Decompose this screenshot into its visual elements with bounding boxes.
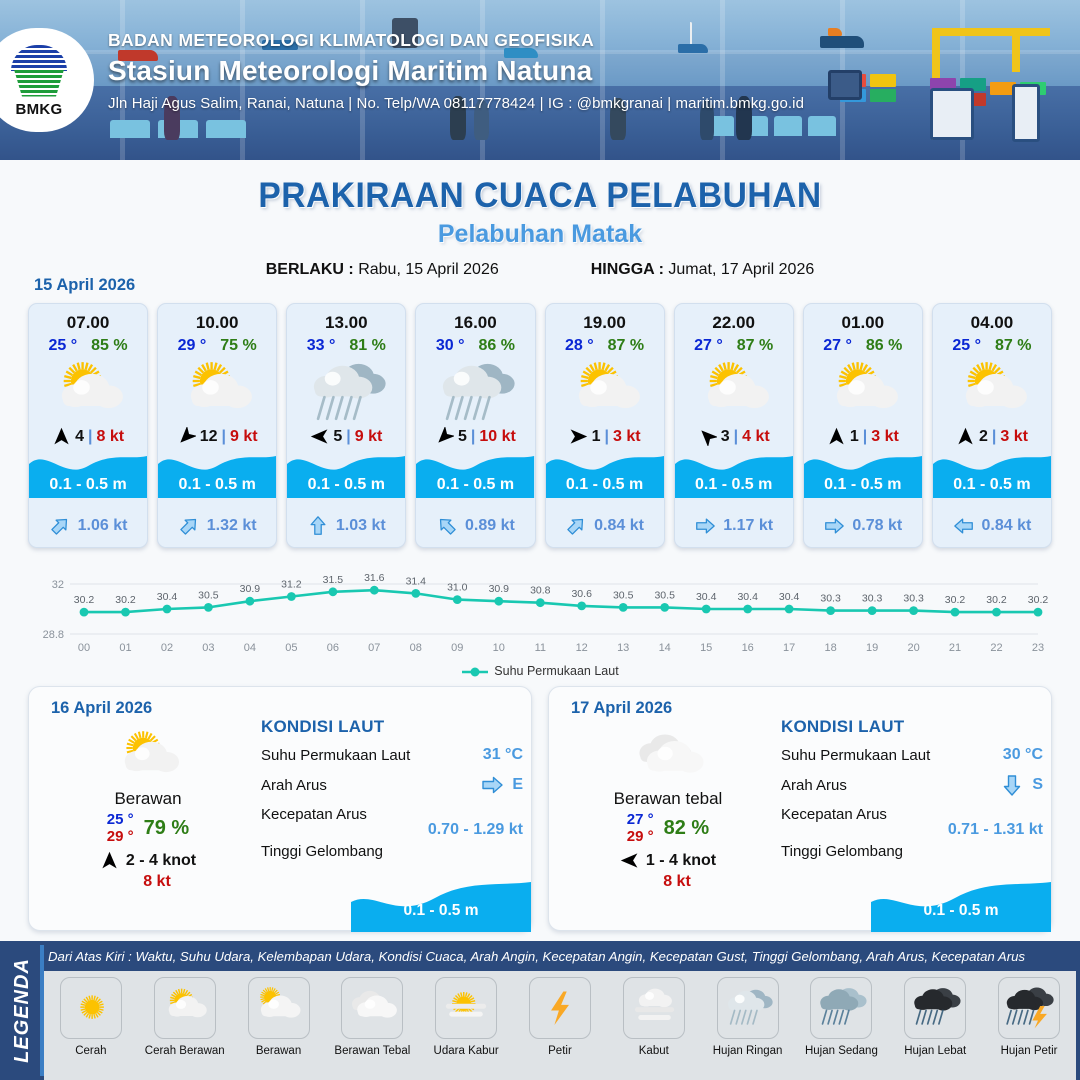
wind-direction-arrow-icon (435, 427, 454, 446)
current-direction-arrow-icon (953, 515, 975, 537)
wave-height: 0.1 - 0.5 m (546, 476, 664, 494)
svg-text:20: 20 (907, 642, 919, 654)
display-panel (1012, 84, 1040, 142)
seat-icon (206, 120, 246, 138)
current-direction-row: Arah ArusE (261, 773, 523, 797)
sea-conditions-block: KONDISI LAUTSuhu Permukaan Laut30 °CArah… (781, 717, 1043, 860)
current-speed-value: 0.71 - 1.31 kt (781, 821, 1043, 839)
legend-item-label: Hujan Petir (982, 1045, 1076, 1057)
contact-line: Jln Haji Agus Salim, Ranai, Natuna | No.… (108, 95, 804, 112)
wind-separator: | (346, 428, 350, 446)
temp-humidity-row: 25 °87 % (933, 337, 1051, 355)
sst-row: Suhu Permukaan Laut30 °C (781, 746, 1043, 764)
wind-separator: | (734, 428, 738, 446)
wind-separator: | (222, 428, 226, 446)
wave-height-value: 0.1 - 0.5 m (351, 902, 531, 920)
svg-text:31.0: 31.0 (447, 582, 468, 594)
temp-humidity-row: 33 °81 % (287, 337, 405, 355)
chart-legend-label: Suhu Permukaan Laut (494, 664, 618, 678)
legend-spine-label: LEGENDA (11, 958, 34, 1063)
weather-condition-icon (675, 359, 793, 421)
validity-period: BERLAKU : Rabu, 15 April 2026 HINGGA : J… (0, 261, 1080, 279)
legend-icon-box (810, 977, 872, 1039)
svg-text:30.5: 30.5 (613, 589, 634, 601)
svg-text:30.2: 30.2 (74, 594, 95, 606)
svg-text:28.8: 28.8 (43, 629, 64, 641)
hujan-ringan-icon (720, 983, 776, 1034)
legend-icon-box (623, 977, 685, 1039)
svg-text:30.3: 30.3 (903, 593, 924, 605)
svg-text:31.4: 31.4 (406, 575, 427, 587)
weather-condition-icon (158, 359, 276, 421)
current-direction-arrow-icon (694, 515, 716, 537)
legend-icon-box (60, 977, 122, 1039)
station-name: Stasiun Meteorologi Maritim Natuna (108, 55, 804, 87)
seat-icon (774, 116, 802, 136)
legend-item: Kabut (607, 971, 701, 1057)
container-icon (870, 74, 896, 87)
current-direction-label: Arah Arus (781, 777, 847, 794)
wind-range: 1 - 4 knot (646, 852, 716, 870)
wave-height: 0.1 - 0.5 m (29, 476, 147, 494)
gust-speed: 9 kt (230, 428, 258, 446)
wind-direction-arrow-icon (698, 427, 717, 446)
bmkg-logo-text: BMKG (15, 101, 62, 118)
current-direction-arrow-icon (178, 515, 200, 537)
forecast-card: 19.0028 °87 %1|3 kt0.1 - 0.5 m0.84 kt (545, 303, 665, 548)
humidity: 87 % (995, 337, 1031, 355)
wave-height-label: Tinggi Gelombang (261, 843, 523, 860)
current-direction-arrow-icon (823, 515, 845, 537)
current-row: 0.84 kt (933, 515, 1051, 537)
header-text-block: BADAN METEOROLOGI KLIMATOLOGI DAN GEOFIS… (108, 30, 804, 112)
gust-speed: 4 kt (742, 428, 770, 446)
current-row: 1.06 kt (29, 515, 147, 537)
current-speed-value: 0.70 - 1.29 kt (261, 821, 523, 839)
air-temperature: 29 ° (178, 337, 207, 355)
air-temperature: 25 ° (952, 337, 981, 355)
forecast-time: 13.00 (287, 313, 405, 333)
svg-text:05: 05 (285, 642, 297, 654)
legend-icon-box (435, 977, 497, 1039)
wind-direction-arrow-icon (956, 427, 975, 446)
legend-icon-box (154, 977, 216, 1039)
current-direction-row: Arah ArusS (781, 773, 1043, 797)
berawan-tebal-icon (344, 983, 400, 1034)
current-speed: 1.17 kt (723, 517, 773, 535)
svg-text:32: 32 (52, 579, 64, 591)
wind-separator: | (604, 428, 608, 446)
legend-item: Cerah (44, 971, 138, 1057)
wind-row: 5|10 kt (416, 427, 534, 446)
wind-range: 2 - 4 knot (126, 852, 196, 870)
legend-item-label: Berawan Tebal (325, 1045, 419, 1057)
temp-humidity-row: 27 °86 % (804, 337, 922, 355)
wind-speed: 1 (592, 428, 601, 446)
cerah-berawan-icon (157, 983, 213, 1034)
svg-text:15: 15 (700, 642, 712, 654)
crane-hoist (1012, 28, 1020, 72)
svg-text:23: 23 (1032, 642, 1044, 654)
temp-humidity-row: 30 °86 % (416, 337, 534, 355)
current-speed: 0.78 kt (852, 517, 902, 535)
svg-text:30.2: 30.2 (115, 594, 136, 606)
current-speed-row: Kecepatan Arus0.71 - 1.31 kt (781, 806, 1043, 839)
air-temperature: 30 ° (436, 337, 465, 355)
gust-speed: 8 kt (96, 428, 124, 446)
svg-text:14: 14 (659, 642, 671, 654)
legend-item: Berawan (232, 971, 326, 1057)
forecast-time: 10.00 (158, 313, 276, 333)
legend-item-label: Cerah (44, 1045, 138, 1057)
legend-spine: LEGENDA (4, 941, 40, 1080)
hujan-petir-icon (1001, 983, 1057, 1034)
panel-date: 17 April 2026 (571, 699, 672, 718)
air-temperature: 28 ° (565, 337, 594, 355)
humidity: 86 % (479, 337, 515, 355)
chart-legend: Suhu Permukaan Laut (0, 664, 1080, 678)
svg-text:21: 21 (949, 642, 961, 654)
legend-item-label: Berawan (232, 1045, 326, 1057)
sst-label: Suhu Permukaan Laut (261, 747, 410, 764)
forecast-time: 04.00 (933, 313, 1051, 333)
humidity: 87 % (737, 337, 773, 355)
legend-items-strip: CerahCerah BerawanBerawanBerawan TebalUd… (44, 971, 1076, 1080)
wind-speed: 2 (979, 428, 988, 446)
hourly-forecast-row: 07.0025 °85 %4|8 kt0.1 - 0.5 m1.06 kt10.… (28, 303, 1052, 548)
sea-conditions-block: KONDISI LAUTSuhu Permukaan Laut31 °CArah… (261, 717, 523, 860)
temp-min: 25 ° (107, 811, 134, 828)
sea-conditions-title: KONDISI LAUT (261, 717, 523, 737)
air-temperature: 33 ° (307, 337, 336, 355)
air-temperature: 27 ° (823, 337, 852, 355)
legend-item-label: Udara Kabur (419, 1045, 513, 1057)
bmkg-emblem-icon (11, 43, 67, 99)
daily-forecast-panel: 16 April 2026Berawan25 °29 °79 %2 - 4 kn… (28, 686, 532, 931)
wave-height-label: Tinggi Gelombang (781, 843, 1043, 860)
display-panel (930, 88, 974, 140)
forecast-card: 04.0025 °87 %2|3 kt0.1 - 0.5 m0.84 kt (932, 303, 1052, 548)
wave-height: 0.1 - 0.5 m (158, 476, 276, 494)
weather-condition-icon (29, 359, 147, 421)
legend-item: Berawan Tebal (325, 971, 419, 1057)
legend-section: LEGENDA Dari Atas Kiri : Waktu, Suhu Uda… (0, 941, 1080, 1080)
svg-text:06: 06 (327, 642, 339, 654)
hingga-value: Jumat, 17 April 2026 (668, 261, 814, 278)
current-row: 0.84 kt (546, 515, 664, 537)
sst-label: Suhu Permukaan Laut (781, 747, 930, 764)
wind-direction-arrow-icon (827, 427, 846, 446)
wind-row: 2|3 kt (933, 427, 1051, 446)
daily-forecast-panel: 17 April 2026Berawan tebal27 °29 °82 %1 … (548, 686, 1052, 931)
air-temperature: 25 ° (49, 337, 78, 355)
weather-condition-icon (933, 359, 1051, 421)
forecast-time: 22.00 (675, 313, 793, 333)
wind-speed: 5 (458, 428, 467, 446)
humidity: 79 % (144, 817, 190, 840)
forecast-card: 16.0030 °86 %5|10 kt0.1 - 0.5 m0.89 kt (415, 303, 535, 548)
legend-item-label: Hujan Ringan (701, 1045, 795, 1057)
svg-text:03: 03 (202, 642, 214, 654)
sst-row: Suhu Permukaan Laut31 °C (261, 746, 523, 764)
svg-text:30.4: 30.4 (779, 591, 800, 603)
seat-icon (808, 116, 836, 136)
current-direction-arrow-icon (307, 515, 329, 537)
legend-icon-box (341, 977, 403, 1039)
panel-weather-summary: Berawan tebal27 °29 °82 %1 - 4 knot8 kt (563, 727, 773, 891)
wave-height-row: Tinggi Gelombang (781, 843, 1043, 860)
container-icon (870, 89, 896, 102)
wind-speed: 5 (333, 428, 342, 446)
legend-icon-box (717, 977, 779, 1039)
panel-date: 16 April 2026 (51, 699, 152, 718)
sst-value: 30 °C (1003, 746, 1043, 764)
weather-condition-icon (43, 727, 253, 785)
current-direction-value: E (512, 776, 523, 794)
air-temperature: 27 ° (694, 337, 723, 355)
page-header: BMKG BADAN METEOROLOGI KLIMATOLOGI DAN G… (0, 0, 1080, 160)
weather-condition-icon (563, 727, 773, 785)
svg-text:07: 07 (368, 642, 380, 654)
crane-boom (932, 28, 1050, 36)
wind-row: 1|3 kt (546, 427, 664, 446)
current-direction-arrow-icon (49, 515, 71, 537)
wind-speed: 4 (75, 428, 84, 446)
svg-text:12: 12 (576, 642, 588, 654)
legend-item-label: Kabut (607, 1045, 701, 1057)
current-direction-label: Arah Arus (261, 777, 327, 794)
wind-row: 1|3 kt (804, 427, 922, 446)
current-speed: 0.84 kt (594, 517, 644, 535)
forecast-time: 16.00 (416, 313, 534, 333)
svg-text:30.2: 30.2 (945, 594, 966, 606)
svg-text:13: 13 (617, 642, 629, 654)
temp-humidity-row: 25 °85 % (29, 337, 147, 355)
temp-humidity-row: 27 °87 % (675, 337, 793, 355)
humidity: 85 % (91, 337, 127, 355)
legend-item-label: Cerah Berawan (138, 1045, 232, 1057)
berlaku-label: BERLAKU : (266, 261, 354, 278)
svg-text:11: 11 (535, 642, 546, 654)
wind-separator: | (88, 428, 92, 446)
wind-speed: 3 (721, 428, 730, 446)
svg-text:30.4: 30.4 (737, 591, 758, 603)
legend-item: Petir (513, 971, 607, 1057)
temp-max: 29 ° (107, 828, 134, 845)
temperature-group: 27 °29 °82 % (563, 811, 773, 845)
cargo-ship-icon (820, 36, 864, 48)
wind-row: 2 - 4 knot (43, 851, 253, 870)
svg-text:30.5: 30.5 (654, 589, 675, 601)
legend-marker-icon (461, 666, 489, 678)
weather-condition-icon (804, 359, 922, 421)
svg-text:18: 18 (824, 642, 836, 654)
legend-caption: Dari Atas Kiri : Waktu, Suhu Udara, Kele… (48, 949, 1073, 964)
seat-icon (110, 120, 150, 138)
legend-item: Udara Kabur (419, 971, 513, 1057)
condition-label: Berawan (43, 789, 253, 809)
svg-text:02: 02 (161, 642, 173, 654)
gust-speed: 10 kt (479, 428, 515, 446)
svg-text:08: 08 (410, 642, 422, 654)
wind-row: 12|9 kt (158, 427, 276, 446)
title-block: PRAKIRAAN CUACA PELABUHAN Pelabuhan Mata… (0, 176, 1080, 279)
legend-item: Hujan Ringan (701, 971, 795, 1057)
gust-speed: 3 kt (1000, 428, 1028, 446)
legend-item-label: Hujan Lebat (888, 1045, 982, 1057)
hingga-label: HINGGA : (591, 261, 664, 278)
temp-min: 27 ° (627, 811, 654, 828)
wave-height-row: Tinggi Gelombang (261, 843, 523, 860)
gust-speed: 8 kt (43, 873, 253, 891)
humidity: 82 % (664, 817, 710, 840)
wind-direction-arrow-icon (52, 427, 71, 446)
panel-weather-summary: Berawan25 °29 °79 %2 - 4 knot8 kt (43, 727, 253, 891)
temperature-group: 25 °29 °79 % (43, 811, 253, 845)
wind-direction-arrow-icon (620, 851, 639, 870)
condition-label: Berawan tebal (563, 789, 773, 809)
svg-text:30.2: 30.2 (986, 594, 1007, 606)
wave-height-value: 0.1 - 0.5 m (871, 902, 1051, 920)
svg-text:30.3: 30.3 (820, 593, 841, 605)
wind-direction-arrow-icon (177, 427, 196, 446)
svg-text:31.6: 31.6 (364, 572, 385, 584)
sst-chart: 3228.830.20030.20130.40230.50330.90431.2… (28, 562, 1052, 662)
weather-condition-icon (416, 359, 534, 421)
svg-text:30.9: 30.9 (489, 583, 510, 595)
wind-direction-arrow-icon (569, 427, 588, 446)
svg-text:31.2: 31.2 (281, 579, 302, 591)
forecast-card: 13.0033 °81 %5|9 kt0.1 - 0.5 m1.03 kt (286, 303, 406, 548)
display-panel (828, 70, 862, 100)
current-row: 0.78 kt (804, 515, 922, 537)
gust-speed: 9 kt (355, 428, 383, 446)
current-direction-arrow-icon (565, 515, 587, 537)
current-speed: 1.03 kt (336, 517, 386, 535)
humidity: 75 % (220, 337, 256, 355)
page-title: PRAKIRAAN CUACA PELABUHAN (22, 176, 1059, 216)
svg-text:30.6: 30.6 (571, 588, 592, 600)
svg-text:04: 04 (244, 642, 256, 654)
current-speed: 0.89 kt (465, 517, 515, 535)
current-direction-arrow-icon (480, 773, 504, 797)
wave-height: 0.1 - 0.5 m (675, 476, 793, 494)
svg-text:10: 10 (493, 642, 505, 654)
weather-condition-icon (546, 359, 664, 421)
gust-speed: 3 kt (871, 428, 899, 446)
svg-text:19: 19 (866, 642, 878, 654)
svg-text:00: 00 (78, 642, 90, 654)
forecast-time: 01.00 (804, 313, 922, 333)
current-row: 1.32 kt (158, 515, 276, 537)
wind-row: 4|8 kt (29, 427, 147, 446)
current-direction-arrow-icon (436, 515, 458, 537)
wind-direction-arrow-icon (310, 427, 329, 446)
weather-condition-icon (287, 359, 405, 421)
hujan-lebat-icon (907, 983, 963, 1034)
hingga-group: HINGGA : Jumat, 17 April 2026 (591, 261, 815, 279)
svg-text:31.5: 31.5 (323, 574, 344, 586)
wind-speed: 1 (850, 428, 859, 446)
current-row: 0.89 kt (416, 515, 534, 537)
petir-icon (532, 983, 588, 1034)
wind-separator: | (992, 428, 996, 446)
berawan-icon (251, 983, 307, 1034)
legend-icon-box (904, 977, 966, 1039)
svg-text:17: 17 (783, 642, 795, 654)
wind-direction-arrow-icon (100, 851, 119, 870)
cerah-icon (63, 983, 119, 1034)
svg-text:30.3: 30.3 (862, 593, 883, 605)
legend-item-label: Hujan Sedang (795, 1045, 889, 1057)
svg-text:30.8: 30.8 (530, 585, 551, 597)
current-speed: 0.84 kt (982, 517, 1032, 535)
wave-height: 0.1 - 0.5 m (416, 476, 534, 494)
wind-speed: 12 (200, 428, 218, 446)
svg-text:16: 16 (742, 642, 754, 654)
sst-value: 31 °C (483, 746, 523, 764)
agency-name: BADAN METEOROLOGI KLIMATOLOGI DAN GEOFIS… (108, 30, 804, 51)
legend-icon-box (529, 977, 591, 1039)
wave-height: 0.1 - 0.5 m (933, 476, 1051, 494)
forecast-card: 22.0027 °87 %3|4 kt0.1 - 0.5 m1.17 kt (674, 303, 794, 548)
legend-item: Cerah Berawan (138, 971, 232, 1057)
berlaku-value: Rabu, 15 April 2026 (358, 261, 499, 278)
legend-item-label: Petir (513, 1045, 607, 1057)
berlaku-group: BERLAKU : Rabu, 15 April 2026 (266, 261, 499, 279)
current-row: 1.03 kt (287, 515, 405, 537)
current-direction-value: S (1032, 776, 1043, 794)
current-speed: 1.06 kt (78, 517, 128, 535)
svg-text:30.4: 30.4 (696, 591, 717, 603)
legend-icon-box (998, 977, 1060, 1039)
wave-height: 0.1 - 0.5 m (804, 476, 922, 494)
current-speed-row: Kecepatan Arus0.70 - 1.29 kt (261, 806, 523, 839)
forecast-card: 01.0027 °86 %1|3 kt0.1 - 0.5 m0.78 kt (803, 303, 923, 548)
svg-text:30.5: 30.5 (198, 589, 219, 601)
legend-icon-box (248, 977, 310, 1039)
wind-row: 1 - 4 knot (563, 851, 773, 870)
hujan-sedang-icon (813, 983, 869, 1034)
svg-text:30.4: 30.4 (157, 591, 178, 603)
page-subtitle: Pelabuhan Matak (0, 220, 1080, 249)
container-icon (828, 28, 842, 36)
svg-text:30.9: 30.9 (240, 583, 261, 595)
daily-forecast-row: 16 April 2026Berawan25 °29 °79 %2 - 4 kn… (28, 686, 1052, 931)
forecast-time: 19.00 (546, 313, 664, 333)
forecast-time: 07.00 (29, 313, 147, 333)
forecast-card: 07.0025 °85 %4|8 kt0.1 - 0.5 m1.06 kt (28, 303, 148, 548)
current-speed: 1.32 kt (207, 517, 257, 535)
temp-humidity-row: 28 °87 % (546, 337, 664, 355)
forecast-card: 10.0029 °75 %12|9 kt0.1 - 0.5 m1.32 kt (157, 303, 277, 548)
current-row: 1.17 kt (675, 515, 793, 537)
temp-humidity-row: 29 °75 % (158, 337, 276, 355)
wind-row: 3|4 kt (675, 427, 793, 446)
wind-separator: | (863, 428, 867, 446)
gust-speed: 3 kt (613, 428, 641, 446)
temp-max: 29 ° (627, 828, 654, 845)
legend-item: Hujan Lebat (888, 971, 982, 1057)
wind-separator: | (471, 428, 475, 446)
humidity: 81 % (349, 337, 385, 355)
wind-row: 5|9 kt (287, 427, 405, 446)
svg-text:09: 09 (451, 642, 463, 654)
current-direction-arrow-icon (1000, 773, 1024, 797)
forecast-day-label: 15 April 2026 (34, 276, 135, 295)
svg-text:30.2: 30.2 (1028, 594, 1049, 606)
gust-speed: 8 kt (563, 873, 773, 891)
